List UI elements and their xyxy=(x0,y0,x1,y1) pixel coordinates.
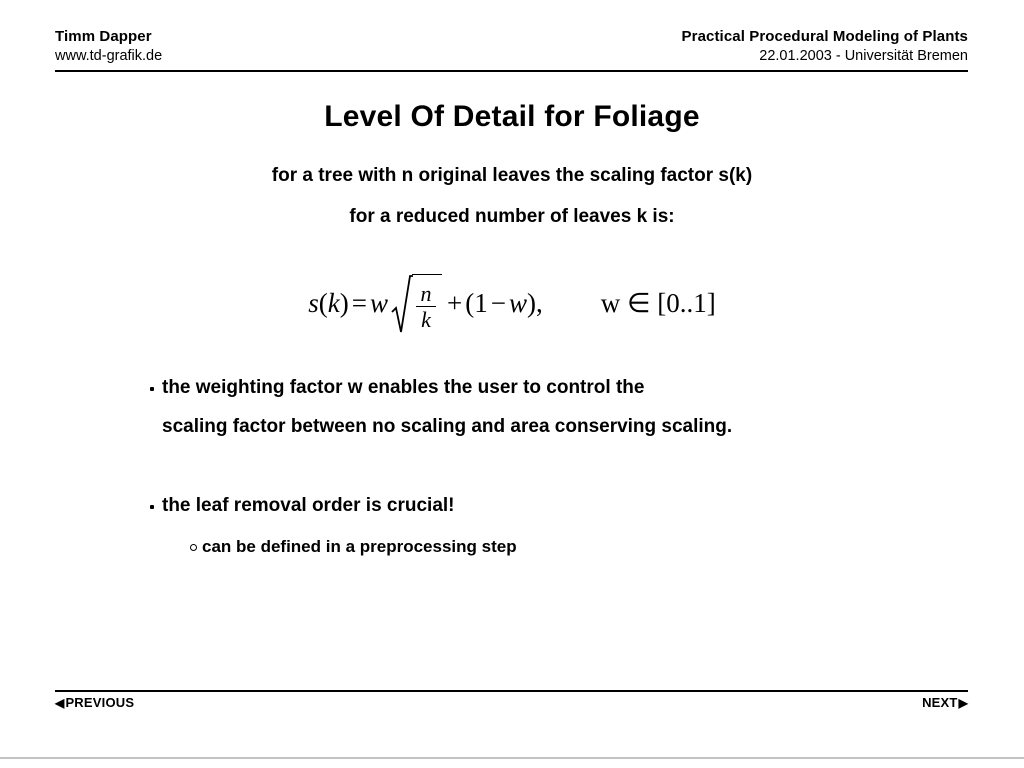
slide-title: Level Of Detail for Foliage xyxy=(0,100,1024,134)
scaling-factor-equation: s(k) = w n k + (1−w), w ∈ [0..1] xyxy=(308,272,716,334)
author-website: www.td-grafik.de xyxy=(55,47,162,65)
header-author-block: Timm Dapper www.td-grafik.de xyxy=(55,28,162,65)
list-item-text: the leaf removal order is crucial! xyxy=(162,496,978,515)
radical-sign-glyph xyxy=(391,274,413,336)
intro-line-1: for a tree with n original leaves the sc… xyxy=(0,166,1024,185)
hollow-circle-bullet-icon xyxy=(188,539,202,558)
page-bottom-divider xyxy=(0,757,1024,759)
equation-lhs-variable: s xyxy=(308,288,319,319)
intro-line-2: for a reduced number of leaves k is: xyxy=(0,207,1024,226)
bullet-2-line-1: the leaf removal order is crucial! xyxy=(162,495,455,516)
bullet-1-line-1: the weighting factor w enables the user … xyxy=(162,377,644,398)
filled-square-bullet-icon xyxy=(148,379,162,398)
bullet-1-line-2: scaling factor between no scaling and ar… xyxy=(162,417,978,436)
list-item-text: the weighting factor w enables the user … xyxy=(162,378,978,436)
previous-slide-button[interactable]: ◀ PREVIOUS xyxy=(55,695,134,710)
fraction-numerator: n xyxy=(417,282,436,305)
bullet-3-line-1: can be defined in a preprocessing step xyxy=(202,537,517,556)
list-item: the weighting factor w enables the user … xyxy=(148,378,978,436)
list-item: can be defined in a preprocessing step xyxy=(188,538,978,557)
weight-range-constraint: w ∈ [0..1] xyxy=(601,288,716,319)
radicand-fraction: n k xyxy=(412,274,442,336)
presentation-title: Practical Procedural Modeling of Plants xyxy=(682,28,968,47)
equation-equals-sign: = xyxy=(349,288,370,319)
equation-lhs-close-paren: ) xyxy=(340,288,349,319)
equation-minus-sign: − xyxy=(488,288,509,319)
formula-block: s(k) = w n k + (1−w), w ∈ [0..1] xyxy=(0,272,1024,334)
equation-rhs-close-paren: ) xyxy=(527,288,536,319)
presentation-venue: 22.01.2003 - Universität Bremen xyxy=(682,47,968,65)
equation-plus-sign: + xyxy=(444,288,465,319)
square-root-icon: n k xyxy=(391,274,442,336)
intro-text-block: for a tree with n original leaves the sc… xyxy=(0,166,1024,226)
filled-square-bullet-icon xyxy=(148,497,162,516)
equation-rhs-open-paren: ( xyxy=(465,288,474,319)
list-item: the leaf removal order is crucial! xyxy=(148,496,978,515)
bullet-list: the weighting factor w enables the user … xyxy=(148,378,978,557)
next-slide-button[interactable]: NEXT ▶ xyxy=(922,695,968,710)
equation-rhs-one: 1 xyxy=(474,288,488,319)
equation-lhs-argument: k xyxy=(328,288,340,319)
equation-rhs-weight-variable: w xyxy=(509,288,527,319)
header-divider xyxy=(55,70,968,72)
author-name: Timm Dapper xyxy=(55,28,162,47)
arrow-right-icon: ▶ xyxy=(959,697,968,709)
equation-weight-variable: w xyxy=(370,288,388,319)
fraction-denominator: k xyxy=(417,308,435,331)
list-item-text: can be defined in a preprocessing step xyxy=(202,538,978,555)
arrow-left-icon: ◀ xyxy=(55,697,64,709)
next-slide-label: NEXT xyxy=(922,695,957,710)
equation-lhs-open-paren: ( xyxy=(319,288,328,319)
footer-divider xyxy=(55,690,968,692)
equation-comma: , xyxy=(536,288,543,319)
slide-navigation: ◀ PREVIOUS NEXT ▶ xyxy=(55,695,968,710)
previous-slide-label: PREVIOUS xyxy=(65,695,134,710)
slide-header: Timm Dapper www.td-grafik.de Practical P… xyxy=(55,28,968,68)
header-presentation-block: Practical Procedural Modeling of Plants … xyxy=(682,28,968,65)
